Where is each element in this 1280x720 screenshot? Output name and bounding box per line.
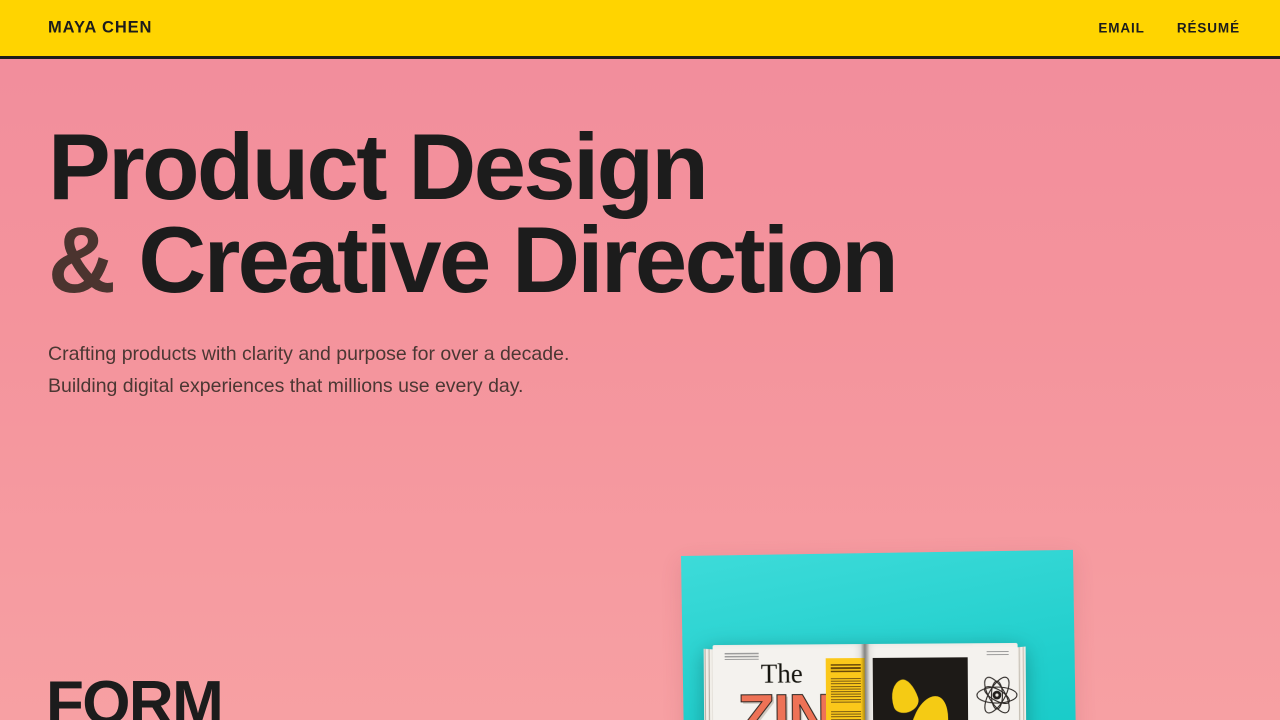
atom-diagram-icon xyxy=(975,673,1019,717)
portfolio-landing-page: MAYA CHEN EMAIL RÉSUMÉ Product Design & … xyxy=(0,0,1280,720)
sidebar-heading-lines xyxy=(831,664,861,673)
primary-nav: EMAIL RÉSUMÉ xyxy=(1098,21,1240,36)
sidebar-body-lines-2 xyxy=(831,711,861,720)
brand-wordmark[interactable]: MAYA CHEN xyxy=(48,19,152,38)
section-heading-form: FORM xyxy=(46,673,222,720)
site-header: MAYA CHEN EMAIL RÉSUMÉ xyxy=(0,0,1280,59)
hero-subhead-line-2: Building digital experiences that millio… xyxy=(48,371,1048,403)
magazine-spread-image: The ZIN xyxy=(713,643,1019,720)
right-page-black-plate xyxy=(873,657,969,720)
sidebar-body-lines-1 xyxy=(831,678,861,704)
ampersand-glyph: & xyxy=(48,207,115,312)
magazine-title-zin: ZIN xyxy=(737,686,831,720)
nav-link-resume[interactable]: RÉSUMÉ xyxy=(1177,21,1240,36)
left-page-yellow-sidebar xyxy=(826,658,866,720)
hero-headline-line-1: Product Design xyxy=(48,120,1048,213)
magazine-left-page: The ZIN xyxy=(713,644,866,720)
hero-subhead-line-1: Crafting products with clarity and purpo… xyxy=(48,339,1048,371)
hero-headline-line-2-text: Creative Direction xyxy=(138,207,896,312)
hero-subhead: Crafting products with clarity and purpo… xyxy=(48,339,1048,403)
magazine-gutter-shadow xyxy=(861,644,871,720)
right-page-header-rule xyxy=(987,651,1009,657)
magazine-right-page xyxy=(865,643,1019,720)
hero-headline-line-2: & Creative Direction xyxy=(48,213,1048,306)
hero-section: Product Design & Creative Direction Craf… xyxy=(48,120,1048,403)
nav-link-email[interactable]: EMAIL xyxy=(1098,21,1145,36)
left-page-header-rule xyxy=(725,653,759,660)
